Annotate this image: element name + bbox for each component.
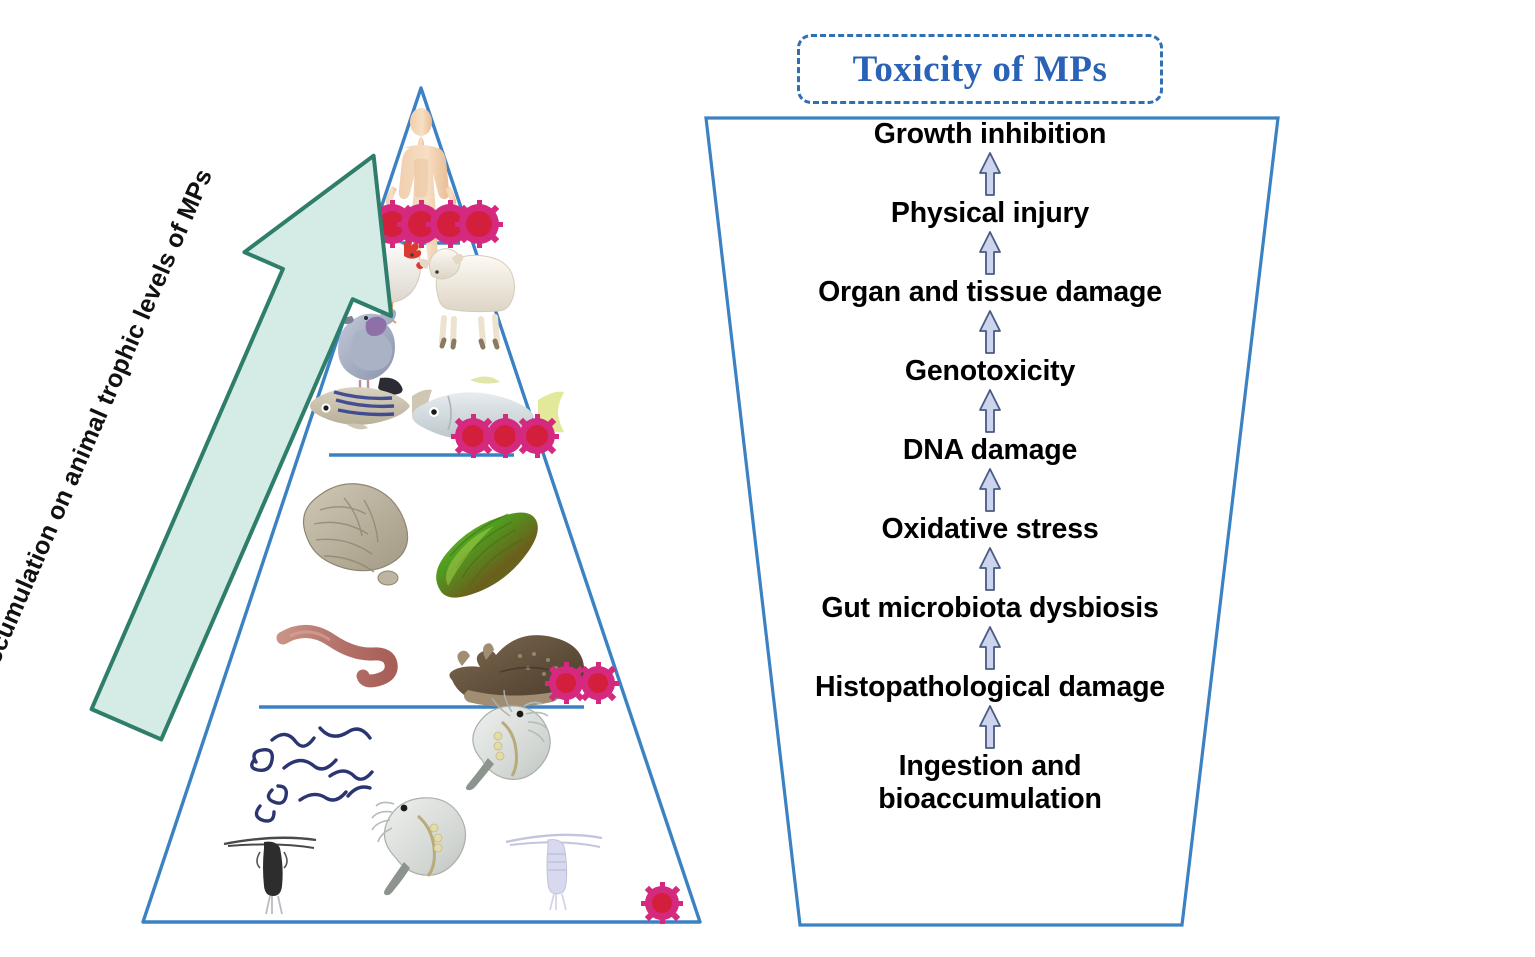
- toxicity-item: Organ and tissue damage: [818, 276, 1162, 309]
- up-arrow-icon: [977, 546, 1003, 592]
- up-arrow-icon: [977, 704, 1003, 750]
- up-arrow-icon: [977, 467, 1003, 513]
- mp-particle: [515, 414, 559, 458]
- toxicity-item: Genotoxicity: [905, 355, 1075, 388]
- up-arrow-icon: [977, 151, 1003, 197]
- mp-particle: [641, 882, 683, 924]
- toxicity-title-box: Toxicity of MPs: [797, 34, 1163, 104]
- toxicity-pathway-list: Growth inhibition Physical injury Organ …: [690, 118, 1290, 816]
- toxicity-title: Toxicity of MPs: [853, 48, 1108, 91]
- trophic-pyramid-panel: Accumulation on animal trophic levels of…: [0, 0, 760, 957]
- figure-canvas: Accumulation on animal trophic levels of…: [0, 0, 1535, 957]
- up-arrow-icon: [977, 388, 1003, 434]
- toxicity-item: Oxidative stress: [881, 513, 1098, 546]
- toxicity-item: Ingestion and bioaccumulation: [878, 750, 1101, 816]
- mp-particle: [577, 662, 619, 704]
- toxicity-item: Physical injury: [891, 197, 1089, 230]
- toxicity-item: DNA damage: [903, 434, 1077, 467]
- toxicity-item: Growth inhibition: [874, 118, 1106, 151]
- toxicity-item: Gut microbiota dysbiosis: [821, 592, 1158, 625]
- mp-particle: [455, 200, 503, 248]
- up-arrow-icon: [977, 625, 1003, 671]
- accumulation-arrow: [80, 120, 420, 760]
- up-arrow-icon: [977, 309, 1003, 355]
- up-arrow-icon: [977, 230, 1003, 276]
- mp-particle-group-level-4: [641, 882, 683, 924]
- toxicity-item: Histopathological damage: [815, 671, 1165, 704]
- mp-particle-group-level-2: [451, 414, 559, 458]
- toxicity-panel: Toxicity of MPs Growth inhibition Physic…: [690, 0, 1535, 957]
